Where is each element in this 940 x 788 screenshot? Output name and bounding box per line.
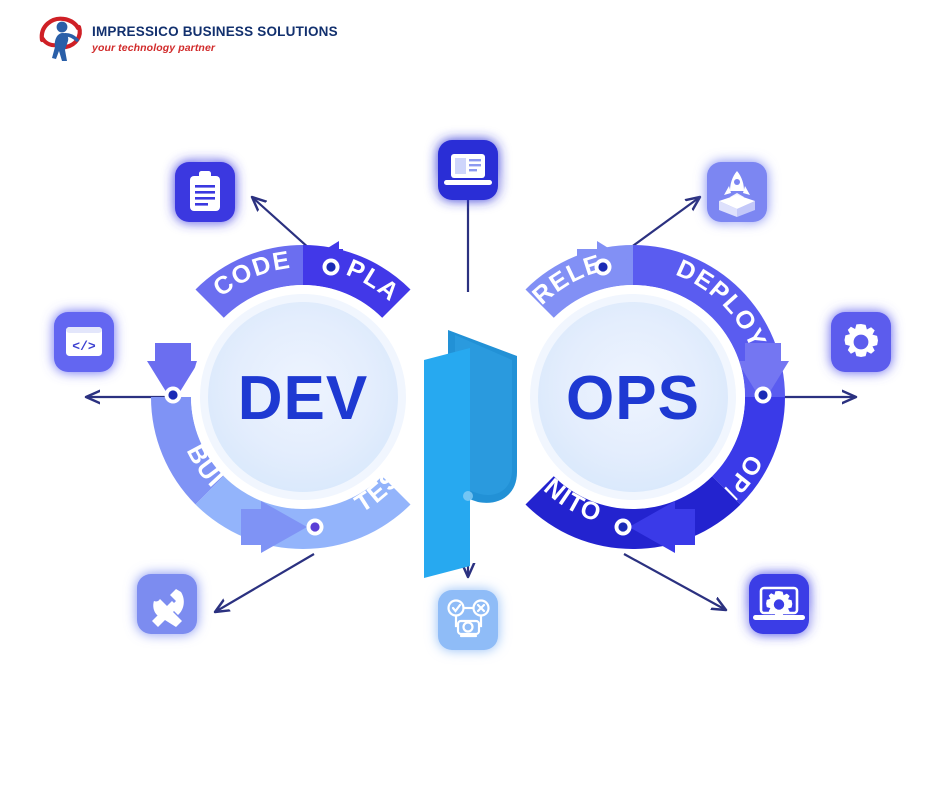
node-dot <box>168 390 177 399</box>
impressico-figure-swoosh-logo <box>38 14 84 64</box>
icon-tile-build[interactable] <box>137 574 197 634</box>
dev-ring: PLAN CODE BUILD <box>147 241 436 553</box>
connector-build <box>215 554 314 612</box>
brand-logo: IMPRESSICO BUSINESS SOLUTIONS your techn… <box>38 14 338 64</box>
icon-tile-test[interactable] <box>438 590 498 650</box>
brand-tagline: your technology partner <box>92 43 338 54</box>
icon-tile-release[interactable] <box>438 140 498 200</box>
node-dot <box>326 262 335 271</box>
devops-ribbon <box>424 330 517 578</box>
ops-ring: RELEASE DEPLOY OPERATE <box>500 241 789 553</box>
gear-icon <box>845 324 878 357</box>
devops-infinity-diagram: PLAN CODE BUILD <box>0 92 940 692</box>
icon-tile-code[interactable]: </> <box>54 312 114 372</box>
node-dot <box>618 522 627 531</box>
laptop-gear-icon <box>753 588 805 620</box>
svg-text:</>: </> <box>72 339 96 354</box>
dev-core-label: DEV <box>238 364 368 433</box>
laptop-screen-icon <box>444 154 492 185</box>
icon-tile-plan[interactable] <box>175 162 235 222</box>
icon-tile-operate[interactable] <box>831 312 891 372</box>
icon-tile-deploy[interactable] <box>707 162 767 222</box>
node-dot <box>598 262 607 271</box>
ops-core-label: OPS <box>566 364 700 433</box>
clipboard-icon <box>190 171 220 211</box>
connector-monitor <box>624 554 726 610</box>
icon-tile-monitor[interactable] <box>749 574 809 634</box>
node-dot <box>310 522 319 531</box>
code-window-icon: </> <box>66 327 102 356</box>
node-dot <box>758 390 767 399</box>
brand-name: IMPRESSICO BUSINESS SOLUTIONS <box>92 25 338 39</box>
